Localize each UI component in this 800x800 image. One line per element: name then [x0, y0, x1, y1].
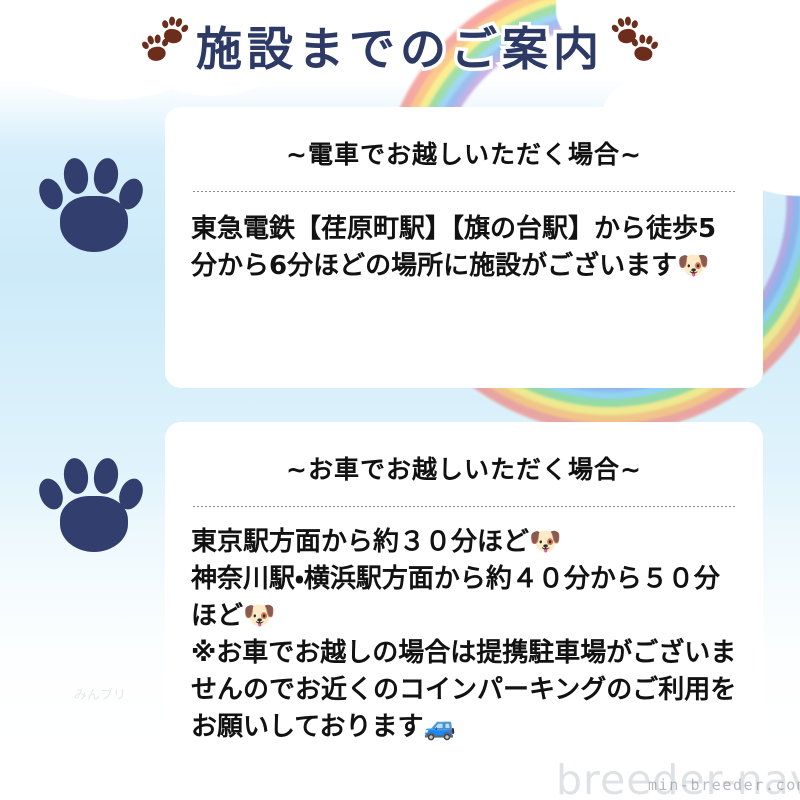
card-heading-car: ~お車でお越しいただく場合~: [191, 450, 737, 486]
page-title: 施設までのご案内: [0, 20, 800, 78]
page-title-text: 施設までのご案内: [196, 24, 604, 75]
info-card-car: ~お車でお越しいただく場合~ 東京駅方面から約３０分ほど🐶 神奈川駅・横浜駅方面…: [165, 422, 763, 770]
paw-print-icon: [138, 32, 172, 66]
faint-watermark: みんブリ: [74, 684, 126, 703]
paw-print-icon: [628, 32, 662, 66]
card-body-car: 東京駅方面から約３０分ほど🐶 神奈川駅・横浜駅方面から約４０分から５０分ほど🐶 …: [191, 524, 737, 745]
paw-print-icon: [612, 20, 670, 78]
info-card-train: ~電車でお越しいただく場合~ 東急電鉄【荏原町駅】【旗の台駅】から徒歩5分から6…: [165, 107, 763, 388]
divider: [193, 191, 735, 193]
paw-print-icon: [38, 448, 148, 558]
page-root: 施設までのご案内 ~電車でお越しいただく場合~ 東急電鉄【荏原町駅】【旗の台駅】…: [0, 0, 800, 800]
watermark-min-breeder: min-breeder.com: [648, 776, 800, 794]
paw-print-icon: [130, 20, 188, 78]
card-body-train: 東急電鉄【荏原町駅】【旗の台駅】から徒歩5分から6分ほどの場所に施設がございます…: [191, 211, 737, 285]
paw-print-icon: [38, 148, 148, 258]
divider: [193, 506, 735, 508]
card-heading-train: ~電車でお越しいただく場合~: [191, 135, 737, 171]
